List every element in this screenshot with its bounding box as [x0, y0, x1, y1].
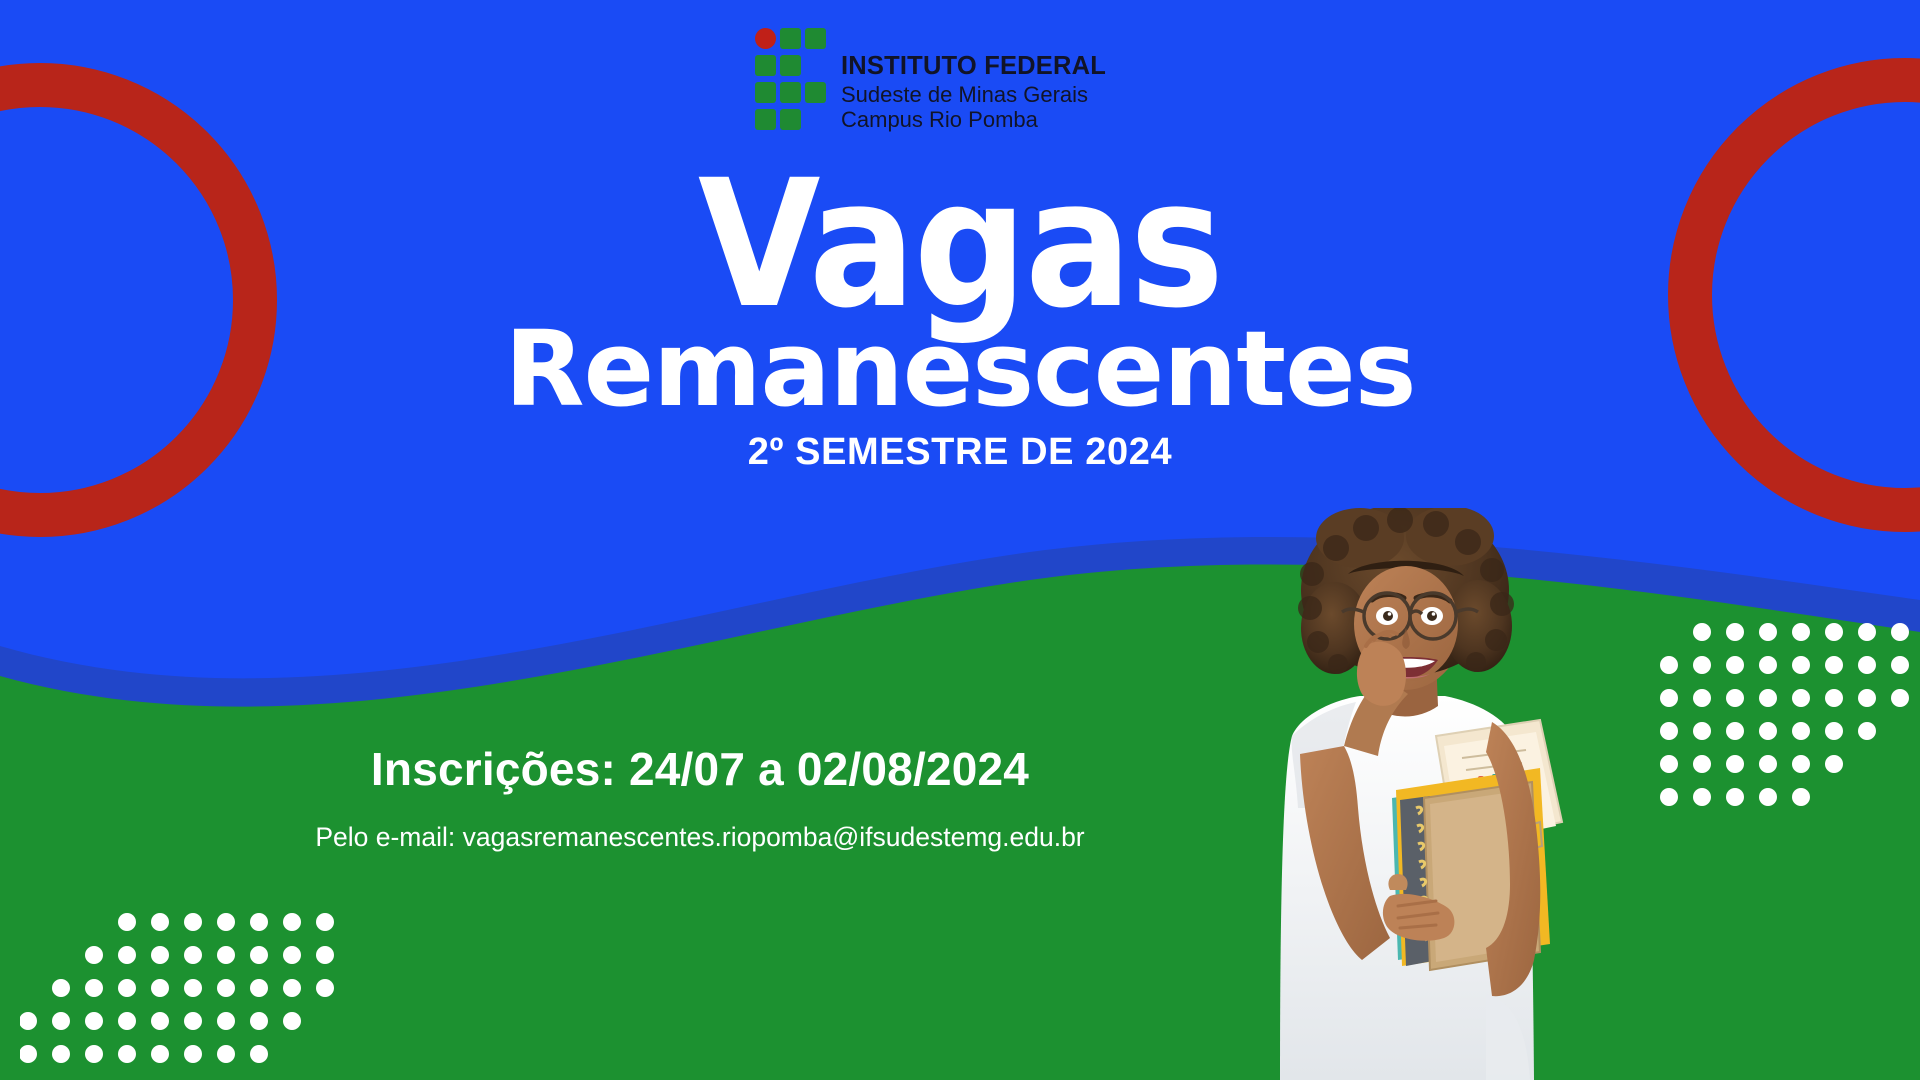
white-dot-grid-top-right — [1660, 618, 1920, 818]
white-dot-grid-bottom-left — [20, 908, 370, 1080]
headline-group: Vagas Remanescentes 2º SEMESTRE DE 2024 — [0, 168, 1920, 474]
poster-canvas: INSTITUTO FEDERAL Sudeste de Minas Gerai… — [0, 0, 1920, 1080]
instituto-federal-grid-logo-icon — [755, 28, 827, 132]
contact-email-line: Pelo e-mail: vagasremanescentes.riopomba… — [160, 822, 1240, 853]
page-subtitle: Remanescentes — [0, 317, 1920, 421]
logo-line-region: Sudeste de Minas Gerais — [841, 82, 1106, 108]
logo-line-campus: Campus Rio Pomba — [841, 107, 1106, 133]
logo-wordmark: INSTITUTO FEDERAL Sudeste de Minas Gerai… — [841, 28, 1106, 133]
inscription-dates: Inscrições: 24/07 a 02/08/2024 — [200, 742, 1200, 796]
logo-line-instituto-federal: INSTITUTO FEDERAL — [841, 52, 1106, 82]
page-title: Vagas — [0, 168, 1920, 323]
student-hand-on-cheek — [1357, 642, 1406, 706]
student-photo — [1240, 508, 1580, 1080]
student-hair — [1298, 508, 1514, 682]
institution-logo: INSTITUTO FEDERAL Sudeste de Minas Gerai… — [755, 28, 1106, 133]
semester-label: 2º SEMESTRE DE 2024 — [0, 431, 1920, 474]
